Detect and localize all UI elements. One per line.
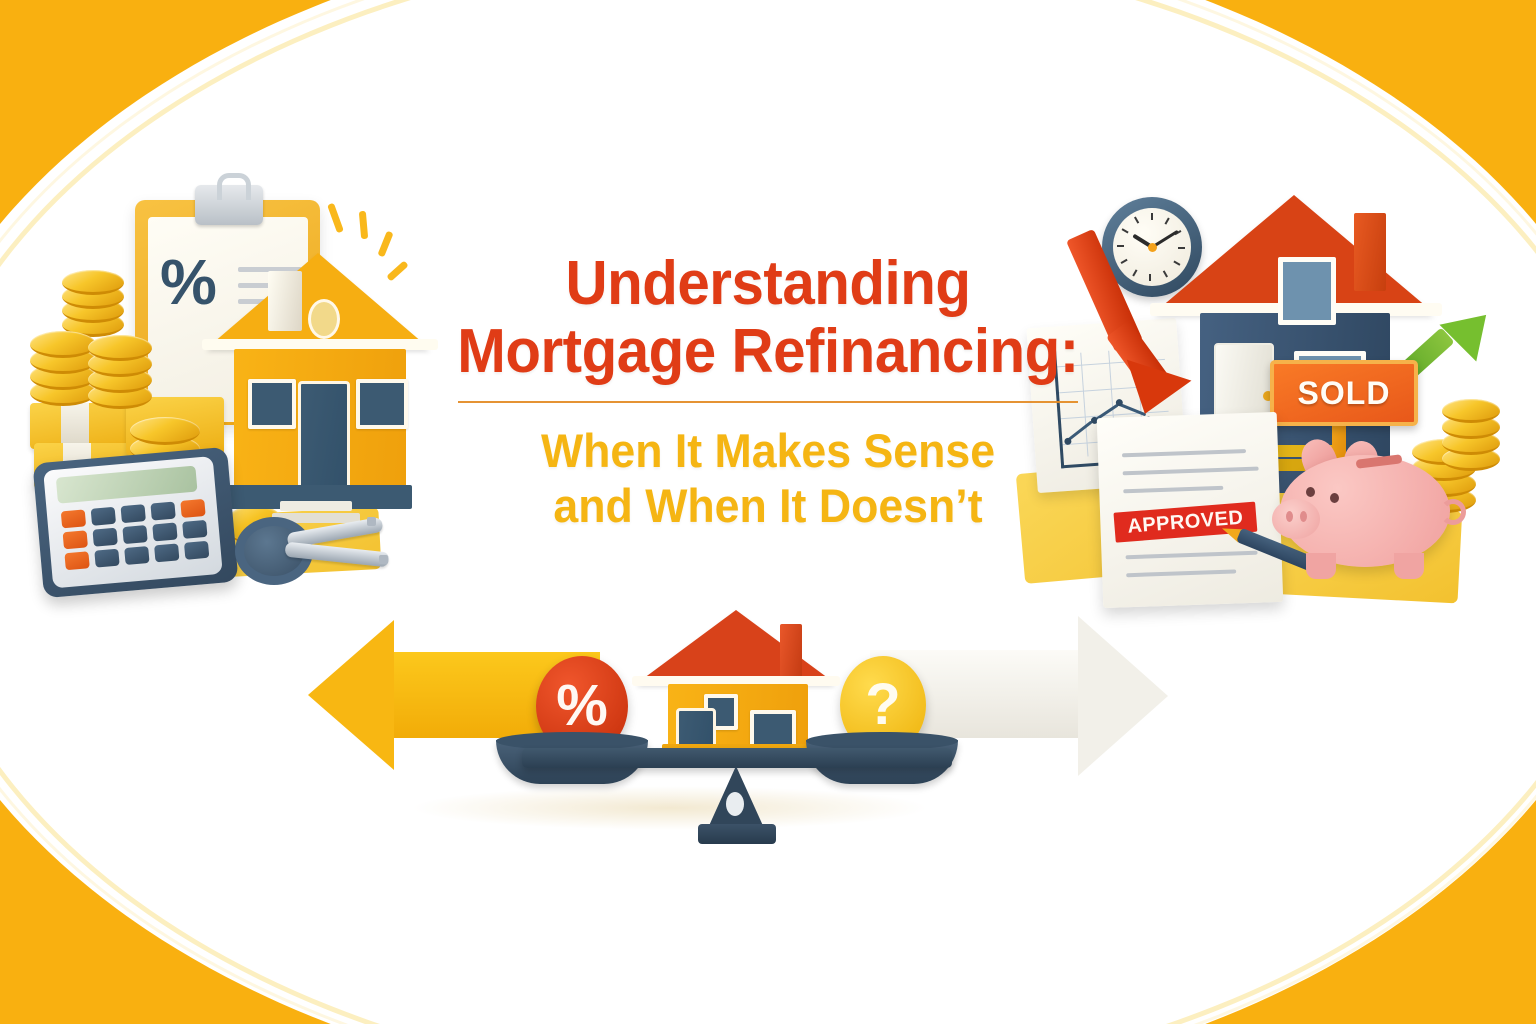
- calculator-key: [184, 541, 209, 560]
- house-keys-illustration: [235, 495, 405, 590]
- calculator-key: [92, 528, 117, 547]
- key-teeth: [367, 517, 376, 526]
- page-subtitle-line2: and When It Doesn’t: [403, 480, 1133, 533]
- question-disc-label: ?: [865, 676, 900, 734]
- house-door: [298, 381, 350, 491]
- scale-pedestal: [700, 766, 772, 844]
- scale-beam: [522, 748, 952, 768]
- calculator-key: [124, 546, 149, 565]
- house-roof: [636, 610, 836, 684]
- center-house-illustration: [638, 610, 834, 758]
- piggy-snout: [1272, 499, 1320, 539]
- title-text-block: Understanding Mortgage Refinancing: When…: [384, 252, 1152, 532]
- page-title-line1: Understanding: [407, 252, 1129, 316]
- piggy-bank-icon: [1272, 437, 1457, 587]
- title-divider-rule: [458, 401, 1078, 403]
- piggy-eye: [1330, 493, 1339, 503]
- document-text-line: [1126, 569, 1236, 577]
- house-window: [1278, 257, 1336, 325]
- calculator-key: [150, 502, 175, 521]
- arrow-head: [308, 620, 394, 770]
- coin: [30, 331, 96, 358]
- house-chimney: [268, 271, 302, 331]
- calculator-key: [61, 509, 86, 528]
- clock-tick: [1122, 228, 1129, 233]
- calculator-key: [94, 549, 119, 568]
- pedestal-foot: [698, 824, 776, 844]
- page-subtitle-line1: When It Makes Sense: [403, 425, 1133, 478]
- piggy-eye: [1306, 487, 1315, 497]
- calculator-key: [154, 543, 179, 562]
- coin-stack: [30, 323, 96, 399]
- key-teeth: [379, 555, 388, 564]
- calculator-key: [121, 504, 146, 523]
- piggy-leg: [1394, 553, 1424, 579]
- coin: [88, 335, 152, 361]
- clock-tick: [1151, 213, 1153, 220]
- calculator-key: [180, 499, 205, 518]
- calculator-key: [152, 522, 177, 541]
- coin-stack: [62, 270, 124, 330]
- coin: [62, 270, 124, 295]
- infographic-canvas: %: [0, 0, 1536, 1024]
- coin: [1442, 399, 1500, 423]
- sold-sign-board: SOLD: [1270, 360, 1418, 426]
- coin-stack: [88, 325, 152, 403]
- document-text-line: [1126, 551, 1258, 560]
- calculator-key: [91, 507, 116, 526]
- arrow-head: [1439, 296, 1504, 361]
- page-title-line2: Mortgage Refinancing:: [407, 320, 1129, 384]
- house-attic-vent: [308, 299, 340, 339]
- calculator-illustration: [32, 447, 238, 598]
- piggy-nostril: [1300, 511, 1307, 522]
- coin: [130, 417, 200, 445]
- clock-tick: [1134, 217, 1139, 224]
- percent-disc-label: %: [556, 677, 608, 735]
- house-chimney: [780, 624, 802, 678]
- piggy-tail: [1440, 499, 1466, 525]
- arrow-head: [1078, 616, 1168, 776]
- piggy-nostril: [1286, 511, 1293, 522]
- house-window: [248, 379, 296, 429]
- clipboard-clip-icon: [195, 185, 263, 225]
- calculator-key: [64, 551, 89, 570]
- house-chimney: [1354, 213, 1386, 291]
- scene-ground-shadow: [410, 786, 930, 830]
- pedestal-hole: [726, 792, 744, 816]
- balance-scale-scene: % ?: [300, 598, 1180, 848]
- sold-sign-label: SOLD: [1274, 364, 1414, 422]
- piggy-leg: [1306, 553, 1336, 579]
- sparkle-ray-icon: [359, 211, 368, 240]
- sparkle-ray-icon: [327, 203, 344, 234]
- calculator-key: [182, 520, 207, 539]
- calculator-key: [63, 530, 88, 549]
- calculator-key: [122, 525, 147, 544]
